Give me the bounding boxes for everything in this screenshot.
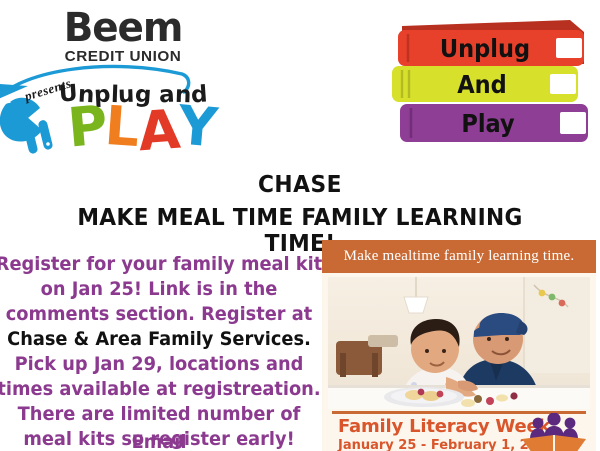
mealtime-photo-illustration [328, 277, 590, 409]
family-reading-book-logo-icon [518, 413, 590, 451]
contact-email-line: Email literacyinchase@gmail.com with [0, 430, 322, 451]
play-letter-l: L [103, 99, 141, 155]
book-label-play: Play [461, 109, 515, 138]
beem-wordmark: Beem [53, 8, 193, 48]
book-unplug: Unplug [398, 20, 584, 66]
family-literacy-week-card: Make mealtime family learning time. [322, 240, 596, 451]
play-letter-y: Y [176, 98, 220, 155]
card-footer: Family Literacy Week January 25 - Februa… [322, 411, 596, 451]
card-banner: Make mealtime family learning time. [322, 240, 596, 273]
book-label-unplug: Unplug [440, 34, 530, 63]
book-and: And [392, 66, 578, 102]
play-wordmark: PLAY [68, 100, 217, 154]
body-segment-2-org: Chase & Area Family Services. [7, 328, 311, 350]
book-play: Play [400, 104, 588, 142]
page-title: CHASE [122, 172, 479, 198]
mealtime-photo [328, 277, 590, 409]
stacked-books-graphic: Unplug And Play [388, 12, 594, 152]
announcement-body: Register for your family meal kit on Jan… [0, 252, 322, 451]
book-label-and: And [457, 70, 507, 99]
poster-canvas: Beem CREDIT UNION presents Unplug and PL… [0, 0, 600, 451]
body-segment-1: Register for your family meal kit on Jan… [0, 253, 322, 325]
beem-credit-union-logo: Beem CREDIT UNION [58, 8, 188, 65]
